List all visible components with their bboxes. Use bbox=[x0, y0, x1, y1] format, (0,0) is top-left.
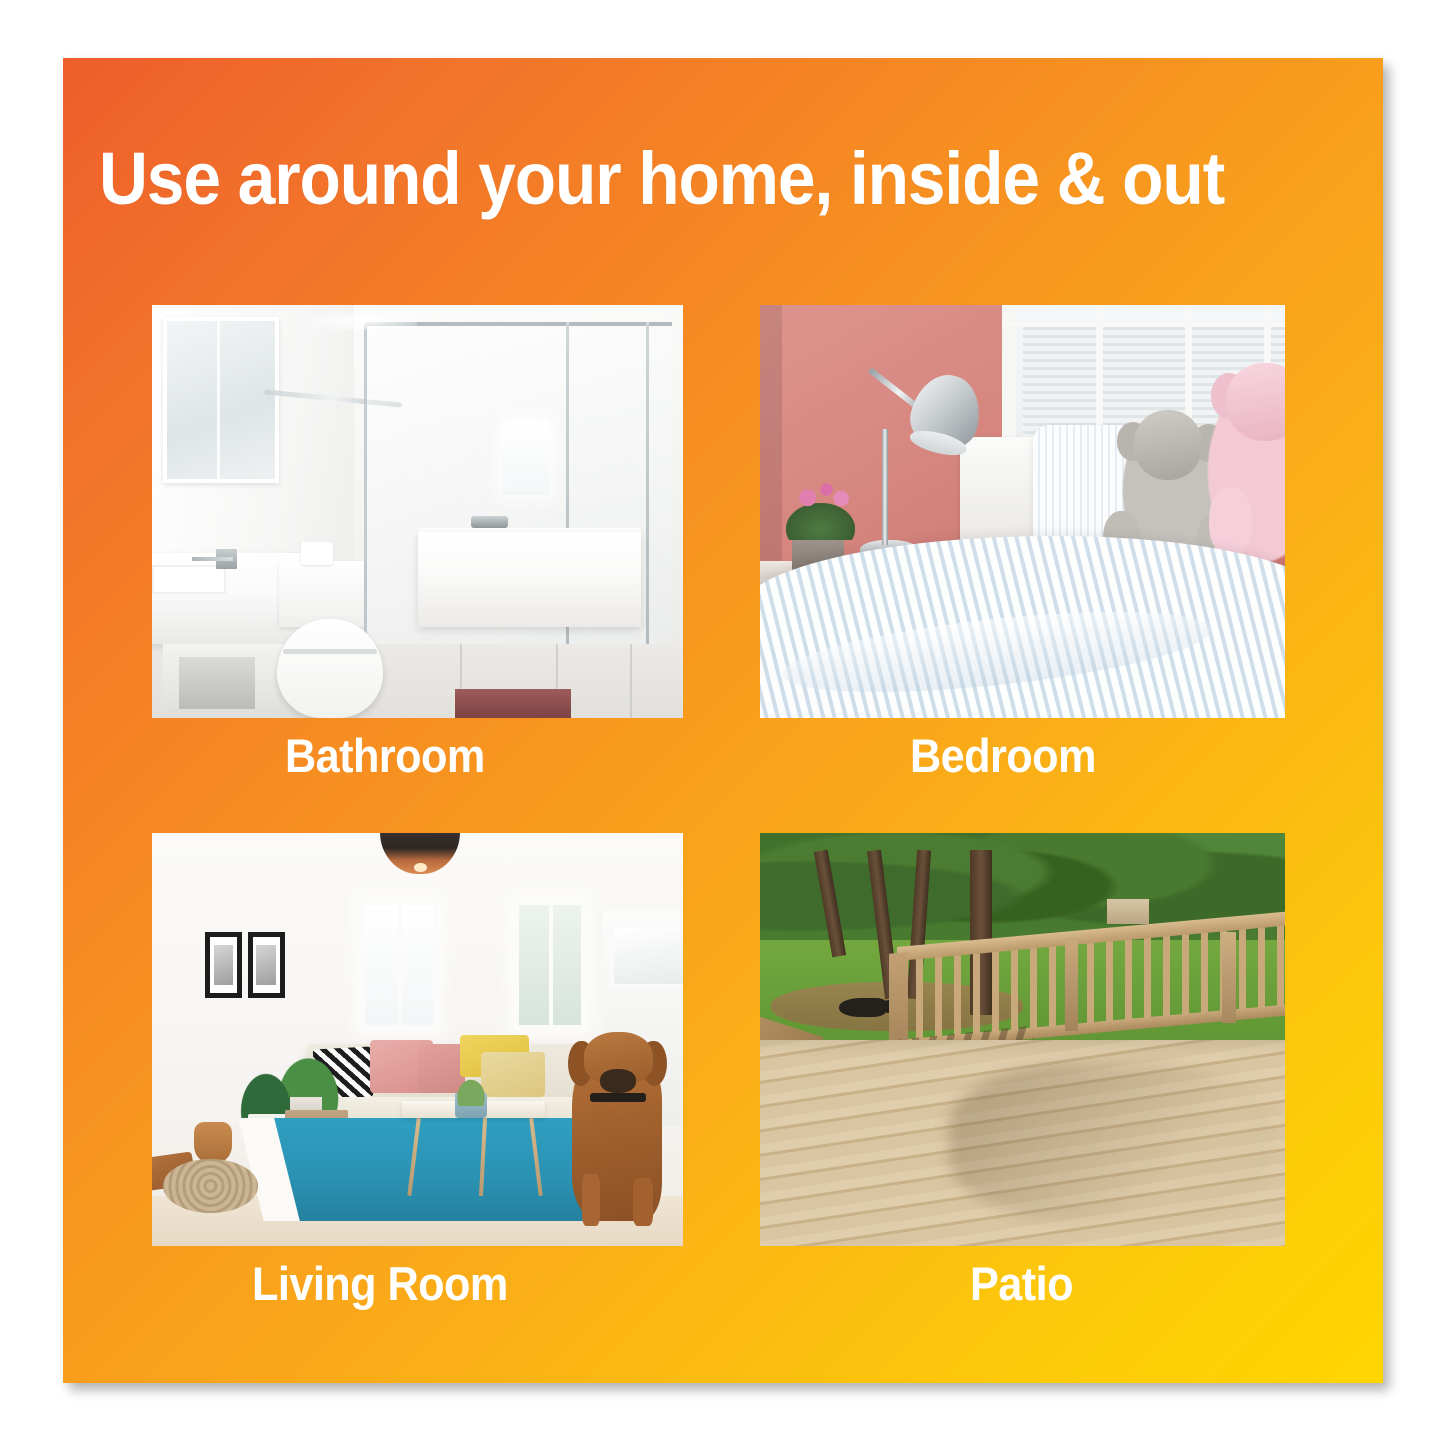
sink-basin-icon bbox=[152, 565, 226, 594]
shower-glass-door-icon bbox=[646, 322, 649, 694]
animal-icon bbox=[839, 998, 886, 1017]
bear-arm bbox=[1209, 487, 1252, 557]
dog-muzzle bbox=[600, 1069, 636, 1093]
bathroom-photo bbox=[152, 305, 683, 718]
railing-post-icon bbox=[1222, 932, 1236, 1023]
bath-mat-icon bbox=[455, 689, 572, 718]
tile-label-bedroom: Bedroom bbox=[910, 732, 1255, 779]
dog-collar bbox=[590, 1093, 646, 1102]
living-room-photo bbox=[152, 833, 683, 1246]
window-header-trim bbox=[1002, 322, 1286, 327]
living-room-window-icon bbox=[513, 899, 587, 1031]
wall-art-frame-icon bbox=[205, 932, 242, 998]
toilet-paper-icon bbox=[301, 542, 333, 565]
bathtub-icon bbox=[418, 532, 641, 627]
distant-house-icon bbox=[1107, 899, 1149, 924]
sink-faucet-icon bbox=[216, 549, 237, 570]
dog-leg bbox=[582, 1174, 600, 1226]
bear-head bbox=[1134, 410, 1202, 479]
mirror-cabinet-icon bbox=[163, 317, 280, 482]
patio-photo bbox=[760, 833, 1285, 1246]
room-tile-grid: Bathroom bbox=[152, 305, 1297, 1305]
bedroom-photo bbox=[760, 305, 1285, 718]
tile-label-patio: Patio bbox=[970, 1260, 1260, 1307]
promo-panel: Use around your home, inside & out bbox=[63, 58, 1383, 1383]
dog-icon bbox=[572, 1048, 662, 1221]
page-title: Use around your home, inside & out bbox=[99, 142, 1252, 216]
yellow-pillow-icon bbox=[481, 1052, 545, 1097]
railing-post-icon bbox=[1065, 940, 1079, 1031]
room-tile-bedroom[interactable]: Bedroom bbox=[760, 305, 1285, 779]
ceiling-light-glare bbox=[311, 313, 417, 330]
woven-pouf-icon bbox=[163, 1159, 259, 1213]
toilet-tank-icon bbox=[279, 561, 364, 627]
floor-tile-line bbox=[630, 644, 632, 718]
pink-flowers-icon bbox=[792, 478, 855, 511]
bathtub-faucet-icon bbox=[471, 516, 508, 528]
tile-label-bathroom: Bathroom bbox=[285, 732, 651, 779]
pendant-lamp-icon bbox=[380, 833, 460, 874]
lamp-stem-icon bbox=[882, 429, 888, 545]
room-tile-bathroom[interactable]: Bathroom bbox=[152, 305, 683, 779]
clay-vase-icon bbox=[194, 1122, 231, 1163]
bear-head bbox=[1226, 363, 1285, 441]
shower-glass-divider-icon bbox=[566, 322, 569, 694]
succulent-plant-icon bbox=[455, 1077, 487, 1106]
living-room-window-icon bbox=[359, 899, 439, 1031]
room-tile-living-room[interactable]: Living Room bbox=[152, 833, 683, 1307]
bathroom-window-icon bbox=[502, 421, 550, 495]
wall-art-frame-icon bbox=[248, 932, 285, 998]
toilet-bowl-icon bbox=[277, 619, 383, 718]
tile-label-living-room: Living Room bbox=[252, 1260, 649, 1307]
deck-shadow bbox=[949, 1064, 1275, 1221]
room-tile-patio[interactable]: Patio bbox=[760, 833, 1285, 1307]
screenshot-root: Use around your home, inside & out bbox=[0, 0, 1445, 1445]
dog-leg bbox=[633, 1178, 653, 1227]
